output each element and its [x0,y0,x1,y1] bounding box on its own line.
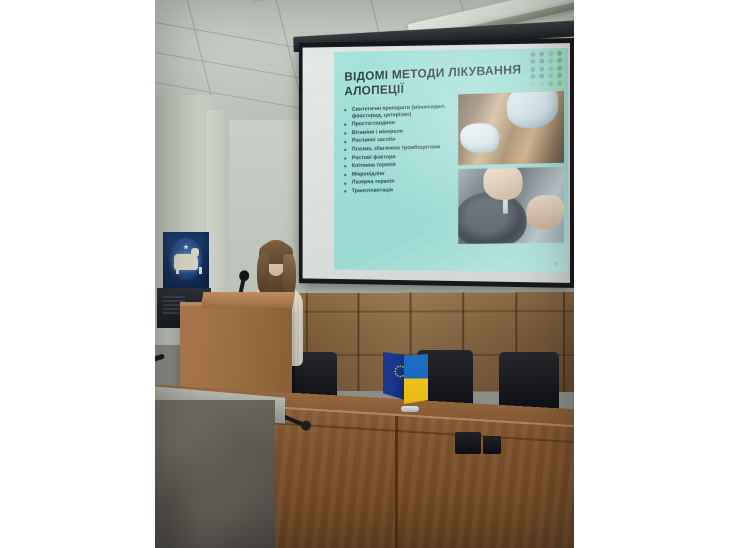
screen-border: ВІДОМІ МЕТОДИ ЛІКУВАННЯ АЛОПЕЦІЇ Синтети… [299,38,574,288]
projector-screen: ВІДОМІ МЕТОДИ ЛІКУВАННЯ АЛОПЕЦІЇ Синтети… [299,38,574,288]
slide-bullet-list: Синтетичні препарати (міноксидил, фініст… [344,104,450,197]
slide-dot [548,66,553,71]
slide-dot [539,51,544,56]
slide-image-scalp-injection [458,167,564,244]
slide-dot [548,73,553,78]
gloved-hand-icon [507,91,558,129]
chair [499,352,559,410]
eu-star-icon [396,375,399,378]
eu-star-icon [396,366,399,369]
slide-dot [557,51,562,56]
slide-dot [530,52,535,57]
screen-surface: ВІДОМІ МЕТОДИ ЛІКУВАННЯ АЛОПЕЦІЇ Синтети… [303,43,570,283]
conference-photograph: ВІДОМІ МЕТОДИ ЛІКУВАННЯ АЛОПЕЦІЇ Синтети… [155,0,574,548]
hand-upper-icon [483,167,522,200]
podium-desktop [201,292,296,308]
slide-bullet: Трансплантація [344,186,450,195]
eu-star-icon [402,366,405,369]
slide-image-scalp-treatment [458,91,564,165]
slide-dot [557,73,562,78]
slide-bullet: Лазерна терапія [344,178,450,187]
slide-bullet: Клітинна терапія [344,161,450,170]
gloved-hand-lower-icon [460,123,499,154]
eu-star-icon [395,367,398,370]
floor [155,400,275,548]
slide-dot [557,58,562,63]
ceiling-light-secondary [248,0,397,4]
scalp-hair-region [458,191,526,243]
presenter-hair-left [257,254,269,294]
flag-pair [377,352,441,414]
hand-right-icon [526,195,564,229]
floor-texture [155,400,275,548]
slide-dot [557,65,562,70]
slide-number: 9 [555,262,558,268]
eu-star-icon [395,373,398,376]
slide-bullet: Ростові фактори [344,152,450,161]
slide-dot [548,58,553,63]
ukraine-flag [404,354,428,404]
banner-emblem-icon [174,254,198,270]
slide-dot [548,51,553,56]
institution-banner [163,232,209,294]
slide-bullet: Мікронідлінг [344,169,450,178]
slide-bullet: Синтетичні препарати (міноксидил, фініст… [344,104,450,120]
eu-flag [383,352,405,400]
eu-star-icon [399,375,402,378]
slide-image-group [458,91,564,244]
table-cable-port [483,436,501,454]
table-cable-port [455,432,481,454]
eu-star-icon [402,375,405,378]
screenshot-root: ВІДОМІ МЕТОДИ ЛІКУВАННЯ АЛОПЕЦІЇ Синтети… [0,0,730,548]
microphone-secondary [155,353,165,367]
eu-star-icon [394,370,397,373]
presentation-slide: ВІДОМІ МЕТОДИ ЛІКУВАННЯ АЛОПЕЦІЇ Синтети… [334,48,568,273]
flag-stand [401,406,419,412]
slide-dot [548,81,553,86]
slide-dot [557,80,562,85]
eu-star-icon [399,365,402,368]
